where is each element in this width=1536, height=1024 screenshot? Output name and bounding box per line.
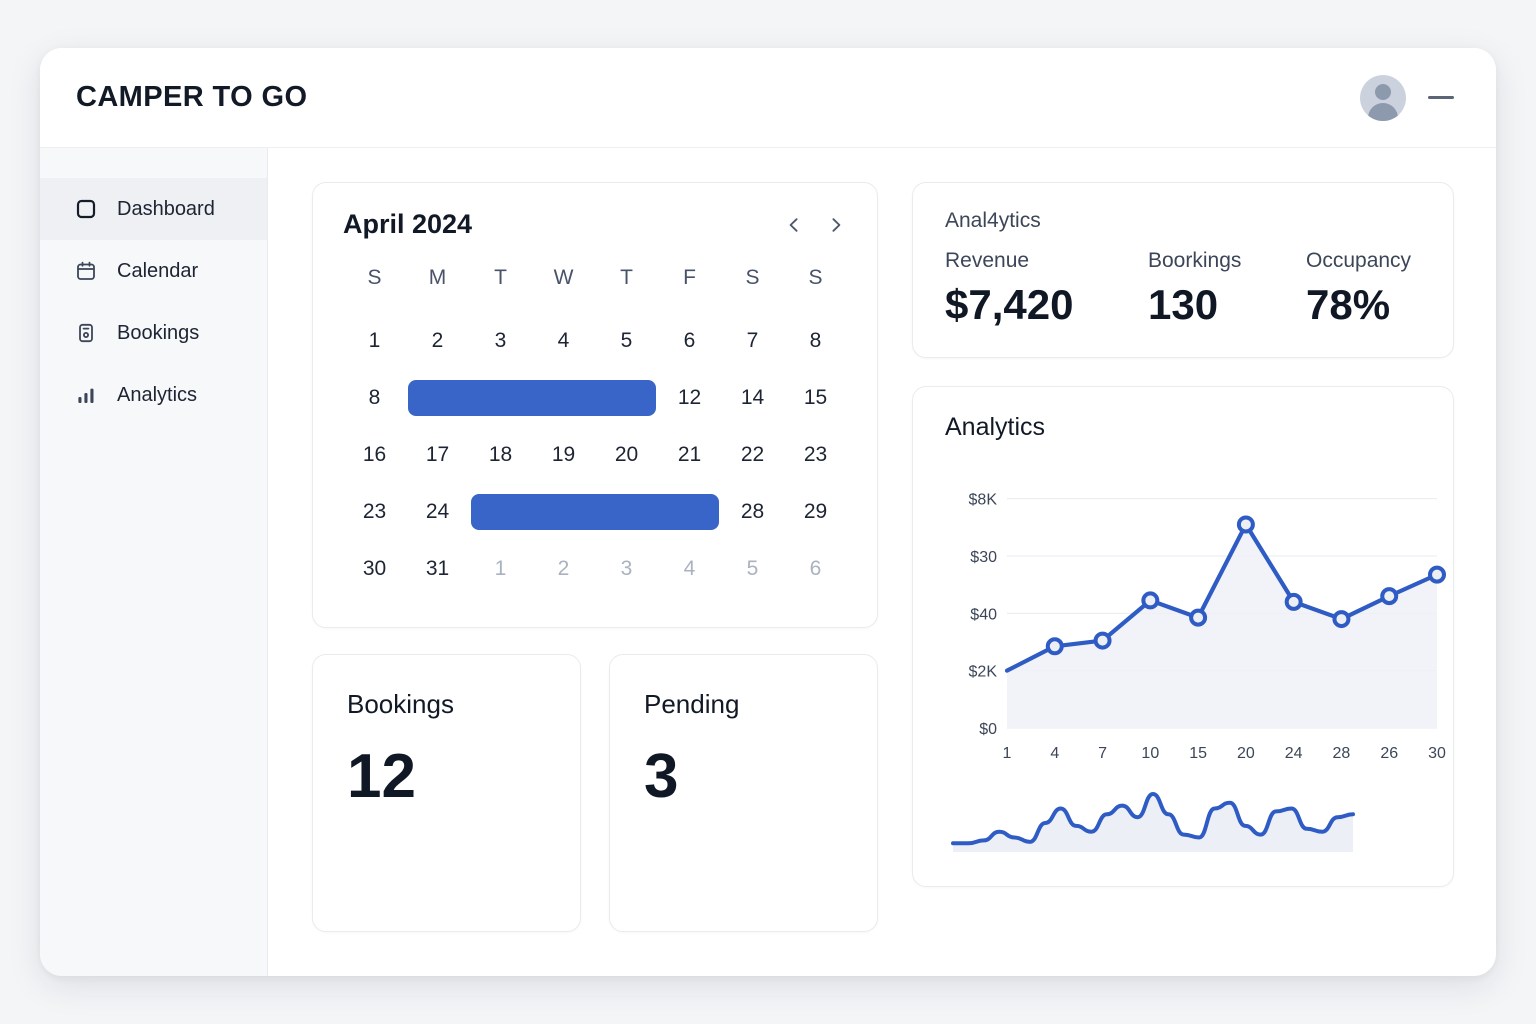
calendar-day[interactable]: 16 — [343, 426, 406, 483]
square-dashboard-icon — [74, 197, 98, 221]
chevron-left-icon[interactable] — [783, 214, 805, 236]
calendar-day[interactable]: 17 — [406, 426, 469, 483]
calendar-day[interactable]: 7 — [721, 312, 784, 369]
stat-value: 3 — [644, 746, 843, 808]
kpi-card-title: Anal4ytics — [945, 209, 1421, 233]
sidebar-item-dashboard[interactable]: Dashboard — [40, 178, 267, 240]
kpi-metric-label: Occupancy — [1306, 249, 1411, 273]
chart-data-point[interactable] — [1096, 634, 1110, 648]
chart-data-point[interactable] — [1143, 594, 1157, 608]
chevron-right-icon[interactable] — [825, 214, 847, 236]
chart-ytick-label: $8K — [969, 492, 998, 509]
chart-ytick-label: $40 — [970, 606, 997, 623]
calendar-card: April 2024 SMTWTFSS12345678812141516171 — [312, 182, 878, 628]
calendar-dow-3: W — [532, 266, 595, 312]
stat-label: Pending — [644, 689, 843, 720]
kpi-metric-value: $7,420 — [945, 283, 1148, 327]
kpi-metric-occupancy: Occupancy 78% — [1306, 249, 1411, 327]
sidebar-item-label: Dashboard — [117, 198, 215, 221]
bar-chart-icon — [74, 383, 98, 407]
chart-data-point[interactable] — [1334, 612, 1348, 626]
header-actions — [1360, 75, 1454, 121]
calendar-day[interactable]: 5 — [721, 540, 784, 597]
sparkline-chart — [945, 786, 1423, 864]
chart-xtick-label: 10 — [1141, 745, 1159, 762]
line-chart-svg: $8K$30$40$2K$014710152024282630 — [945, 456, 1455, 786]
calendar-day[interactable]: 3 — [595, 540, 658, 597]
chart-xtick-label: 20 — [1237, 745, 1255, 762]
chart-xtick-label: 1 — [1003, 745, 1012, 762]
sparkline-svg — [945, 786, 1455, 864]
calendar-day[interactable]: 4 — [532, 312, 595, 369]
calendar-dow-4: T — [595, 266, 658, 312]
calendar-day[interactable]: 8 — [343, 369, 406, 426]
calendar-day[interactable]: 6 — [658, 312, 721, 369]
right-column: Anal4ytics Revenue $7,420 Boorkings 130 — [912, 182, 1454, 887]
analytics-card: Analytics $8K$30$40$2K$01471015202428263… — [912, 386, 1454, 887]
kpi-card: Anal4ytics Revenue $7,420 Boorkings 130 — [912, 182, 1454, 358]
kpi-metric-bookings: Boorkings 130 — [1148, 249, 1306, 327]
calendar-day[interactable]: 6 — [784, 540, 847, 597]
calendar-day[interactable]: 1 — [343, 312, 406, 369]
calendar-day[interactable]: 22 — [721, 426, 784, 483]
chart-xtick-label: 15 — [1189, 745, 1207, 762]
chart-data-point[interactable] — [1287, 595, 1301, 609]
calendar-day[interactable]: 28 — [721, 483, 784, 540]
kpi-metric-revenue: Revenue $7,420 — [945, 249, 1148, 327]
calendar-title: April 2024 — [343, 209, 472, 240]
kpi-metric-label: Boorkings — [1148, 249, 1306, 273]
calendar-day[interactable]: 5 — [595, 312, 658, 369]
calendar-dow-7: S — [784, 266, 847, 312]
sidebar-item-label: Bookings — [117, 322, 199, 345]
chart-xtick-label: 26 — [1380, 745, 1398, 762]
left-column: April 2024 SMTWTFSS12345678812141516171 — [312, 182, 878, 932]
calendar-day[interactable]: 1 — [469, 540, 532, 597]
sidebar-item-bookings[interactable]: Bookings — [40, 302, 267, 364]
calendar-day[interactable]: 15 — [784, 369, 847, 426]
calendar-day[interactable]: 23 — [784, 426, 847, 483]
chart-ytick-label: $30 — [970, 549, 997, 566]
calendar-day[interactable]: 29 — [784, 483, 847, 540]
kpi-metric-row: Revenue $7,420 Boorkings 130 Occupancy 7… — [945, 249, 1421, 327]
app-body: Dashboard Calendar — [40, 148, 1496, 976]
kpi-metric-value: 130 — [1148, 283, 1306, 327]
calendar-day[interactable]: 31 — [406, 540, 469, 597]
calendar-header: April 2024 — [343, 209, 847, 240]
app-header: CAMPER TO GO — [40, 48, 1496, 148]
calendar-day[interactable]: 23 — [343, 483, 406, 540]
page-title: CAMPER TO GO — [76, 81, 307, 114]
stat-card-bookings: Bookings 12 — [312, 654, 581, 932]
stat-value: 12 — [347, 746, 546, 808]
sidebar-item-label: Analytics — [117, 384, 197, 407]
chart-data-point[interactable] — [1382, 589, 1396, 603]
chart-data-point[interactable] — [1239, 518, 1253, 532]
sidebar-item-analytics[interactable]: Analytics — [40, 364, 267, 426]
calendar-day[interactable]: 19 — [532, 426, 595, 483]
sidebar-item-calendar[interactable]: Calendar — [40, 240, 267, 302]
calendar-day[interactable]: 2 — [406, 312, 469, 369]
main-content: April 2024 SMTWTFSS12345678812141516171 — [268, 148, 1496, 976]
calendar-day[interactable]: 2 — [532, 540, 595, 597]
calendar-grid: SMTWTFSS12345678812141516171819202122232… — [343, 266, 847, 597]
calendar-day[interactable]: 30 — [343, 540, 406, 597]
booking-ticket-icon — [74, 321, 98, 345]
chart-data-point[interactable] — [1048, 639, 1062, 653]
calendar-booking-bar-0[interactable] — [408, 380, 656, 416]
calendar-icon — [74, 259, 98, 283]
calendar-day[interactable]: 18 — [469, 426, 532, 483]
stat-card-row: Bookings 12 Pending 3 — [312, 654, 878, 932]
chart-data-point[interactable] — [1191, 611, 1205, 625]
sidebar: Dashboard Calendar — [40, 148, 268, 976]
chart-xtick-label: 28 — [1333, 745, 1351, 762]
calendar-day[interactable]: 20 — [595, 426, 658, 483]
calendar-dow-0: S — [343, 266, 406, 312]
calendar-day[interactable]: 3 — [469, 312, 532, 369]
calendar-nav — [783, 214, 847, 236]
chart-ytick-label: $0 — [979, 721, 997, 738]
calendar-booking-bar-1[interactable] — [471, 494, 719, 530]
screenshot-root: CAMPER TO GO Dashboard — [0, 0, 1536, 1024]
calendar-day[interactable]: 12 — [658, 369, 721, 426]
sidebar-item-label: Calendar — [117, 260, 198, 283]
calendar-day[interactable]: 4 — [658, 540, 721, 597]
calendar-dow-6: S — [721, 266, 784, 312]
chart-data-point[interactable] — [1430, 568, 1444, 582]
line-chart: $8K$30$40$2K$014710152024282630 — [945, 456, 1423, 786]
stat-card-pending: Pending 3 — [609, 654, 878, 932]
calendar-dow-5: F — [658, 266, 721, 312]
calendar-dow-2: T — [469, 266, 532, 312]
analytics-card-title: Analytics — [945, 413, 1423, 442]
chart-area-fill — [1007, 525, 1437, 729]
chart-ytick-label: $2K — [969, 664, 998, 681]
chart-xtick-label: 7 — [1098, 745, 1107, 762]
calendar-dow-1: M — [406, 266, 469, 312]
calendar-day[interactable]: 21 — [658, 426, 721, 483]
sparkline-area — [953, 794, 1353, 852]
minimize-icon[interactable] — [1428, 96, 1454, 99]
calendar-day[interactable]: 14 — [721, 369, 784, 426]
stat-label: Bookings — [347, 689, 546, 720]
chart-xtick-label: 24 — [1285, 745, 1303, 762]
calendar-day[interactable]: 24 — [406, 483, 469, 540]
kpi-metric-value: 78% — [1306, 283, 1411, 327]
app-window: CAMPER TO GO Dashboard — [40, 48, 1496, 976]
chart-xtick-label: 30 — [1428, 745, 1446, 762]
chart-xtick-label: 4 — [1050, 745, 1059, 762]
kpi-metric-label: Revenue — [945, 249, 1148, 273]
user-avatar-icon[interactable] — [1360, 75, 1406, 121]
calendar-day[interactable]: 8 — [784, 312, 847, 369]
